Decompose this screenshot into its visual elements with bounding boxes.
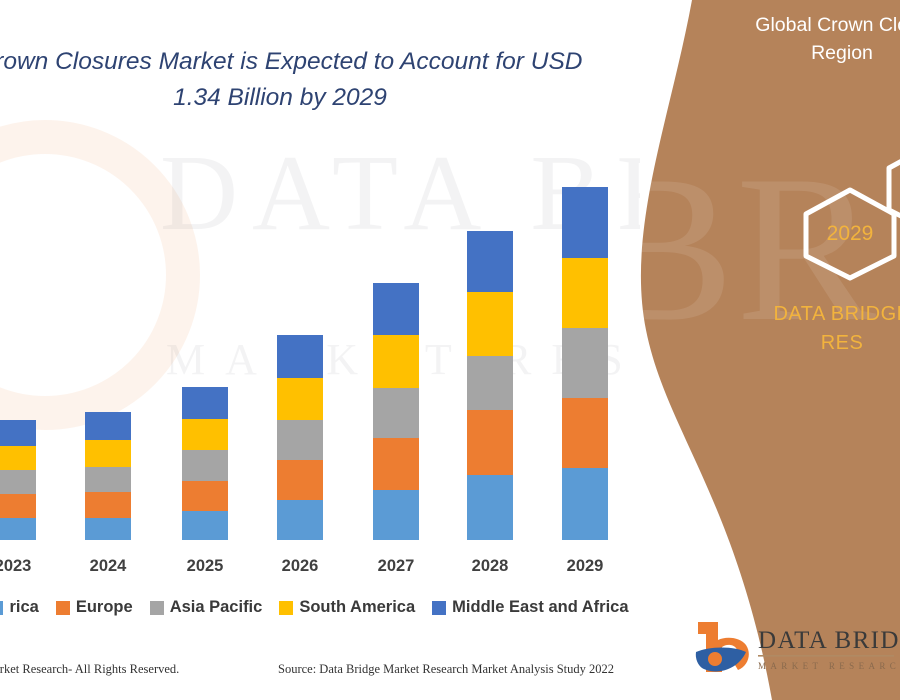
legend-item-1[interactable]: Europe xyxy=(56,598,133,617)
bar-segment-2026-south-america[interactable] xyxy=(277,378,323,420)
bar-2029[interactable] xyxy=(562,187,608,540)
legend-label: South America xyxy=(299,598,415,617)
legend-item-3[interactable]: South America xyxy=(279,598,415,617)
x-axis-label-2024: 2024 xyxy=(65,557,151,576)
bar-segment-2023-europe[interactable] xyxy=(0,494,36,518)
x-axis-label-2028: 2028 xyxy=(447,557,533,576)
bar-segment-2028-middle-east-and-africa[interactable] xyxy=(467,231,513,292)
legend-label: Europe xyxy=(76,598,133,617)
bar-segment-2026-north-america[interactable] xyxy=(277,500,323,540)
legend-item-2[interactable]: Asia Pacific xyxy=(150,598,263,617)
bar-segment-2029-europe[interactable] xyxy=(562,398,608,468)
bar-2024[interactable] xyxy=(85,412,131,540)
panel-title-line-1: Global Crown Closu xyxy=(692,12,900,40)
infographic-page: DATA BRIDGE MARKET RESEA Crown Closures … xyxy=(0,0,900,700)
panel-brand-line-2: RES xyxy=(692,329,900,358)
panel-title-line-2: Region xyxy=(692,40,900,68)
logo-mark-icon: DATA BRIDGE MARKET RESEARCH xyxy=(688,614,900,684)
x-axis-label-2029: 2029 xyxy=(542,557,628,576)
chart-panel: DATA BRIDGE MARKET RESEA Crown Closures … xyxy=(0,0,660,700)
legend-label: Middle East and Africa xyxy=(452,598,628,617)
logo-name: DATA BRIDGE xyxy=(758,627,900,654)
bar-segment-2028-asia-pacific[interactable] xyxy=(467,356,513,410)
chart-legend: ricaEuropeAsia PacificSouth AmericaMiddl… xyxy=(0,598,662,617)
legend-item-4[interactable]: Middle East and Africa xyxy=(432,598,628,617)
bar-segment-2024-middle-east-and-africa[interactable] xyxy=(85,412,131,440)
bar-segment-2027-asia-pacific[interactable] xyxy=(373,388,419,438)
panel-brand-text: DATA BRIDGE RES xyxy=(692,300,900,358)
bar-segment-2028-europe[interactable] xyxy=(467,410,513,475)
legend-swatch-icon xyxy=(150,601,164,615)
legend-item-0[interactable]: rica xyxy=(0,598,39,617)
bar-segment-2023-north-america[interactable] xyxy=(0,518,36,540)
bar-segment-2026-asia-pacific[interactable] xyxy=(277,420,323,460)
hexagon-secondary-label: 2 xyxy=(883,140,900,236)
bar-2023[interactable] xyxy=(0,420,36,540)
bar-segment-2028-south-america[interactable] xyxy=(467,292,513,356)
bar-segment-2024-south-america[interactable] xyxy=(85,440,131,467)
right-brand-panel: BR Global Crown Closu Region 2029 2 DATA… xyxy=(640,0,900,700)
bar-segment-2029-middle-east-and-africa[interactable] xyxy=(562,187,608,258)
bar-2027[interactable] xyxy=(373,283,419,540)
bar-2028[interactable] xyxy=(467,231,513,540)
bar-2025[interactable] xyxy=(182,387,228,540)
bar-segment-2029-asia-pacific[interactable] xyxy=(562,328,608,398)
hexagon-secondary: 2 xyxy=(883,140,900,236)
bar-segment-2023-middle-east-and-africa[interactable] xyxy=(0,420,36,446)
x-axis-label-2025: 2025 xyxy=(162,557,248,576)
bar-segment-2024-asia-pacific[interactable] xyxy=(85,467,131,492)
bar-segment-2027-europe[interactable] xyxy=(373,438,419,490)
legend-swatch-icon xyxy=(0,601,3,615)
bar-2026[interactable] xyxy=(277,335,323,540)
stacked-bar-plot: 2023202420252026202720282029 xyxy=(0,0,660,700)
footer-copyright: Bridge Market Research- All Rights Reser… xyxy=(0,662,179,677)
legend-swatch-icon xyxy=(279,601,293,615)
legend-label: Asia Pacific xyxy=(170,598,263,617)
bar-segment-2024-europe[interactable] xyxy=(85,492,131,518)
bar-segment-2029-south-america[interactable] xyxy=(562,258,608,328)
panel-title: Global Crown Closu Region xyxy=(692,12,900,67)
bar-segment-2026-europe[interactable] xyxy=(277,460,323,500)
bar-segment-2027-south-america[interactable] xyxy=(373,335,419,388)
bar-segment-2023-asia-pacific[interactable] xyxy=(0,470,36,494)
bar-segment-2029-north-america[interactable] xyxy=(562,468,608,540)
footer-source: Source: Data Bridge Market Research Mark… xyxy=(278,662,614,677)
bar-segment-2023-south-america[interactable] xyxy=(0,446,36,470)
legend-label: rica xyxy=(9,598,38,617)
bar-segment-2028-north-america[interactable] xyxy=(467,475,513,540)
x-axis-label-2023: 2023 xyxy=(0,557,56,576)
bar-segment-2025-north-america[interactable] xyxy=(182,511,228,540)
bar-segment-2025-asia-pacific[interactable] xyxy=(182,450,228,481)
bar-segment-2027-north-america[interactable] xyxy=(373,490,419,540)
legend-swatch-icon xyxy=(56,601,70,615)
legend-swatch-icon xyxy=(432,601,446,615)
logo-tagline: MARKET RESEARCH xyxy=(758,661,900,671)
data-bridge-logo: DATA BRIDGE MARKET RESEARCH xyxy=(688,614,900,684)
bar-segment-2025-europe[interactable] xyxy=(182,481,228,511)
bar-segment-2026-middle-east-and-africa[interactable] xyxy=(277,335,323,378)
bar-segment-2024-north-america[interactable] xyxy=(85,518,131,540)
bar-segment-2027-middle-east-and-africa[interactable] xyxy=(373,283,419,335)
x-axis-label-2027: 2027 xyxy=(353,557,439,576)
bar-segment-2025-middle-east-and-africa[interactable] xyxy=(182,387,228,419)
x-axis-label-2026: 2026 xyxy=(257,557,343,576)
bar-segment-2025-south-america[interactable] xyxy=(182,419,228,450)
panel-brand-line-1: DATA BRIDGE xyxy=(692,300,900,329)
